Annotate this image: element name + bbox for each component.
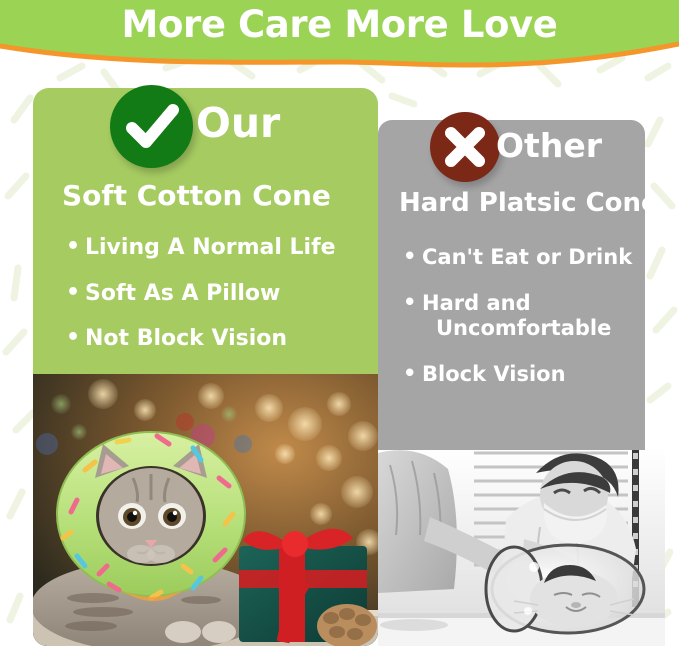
x-circle-icon [430,112,500,182]
cat-wearing-soft-donut-cone-photo [33,374,378,646]
list-item: Can't Eat or Drink [403,245,632,269]
list-item-line1: Hard and [422,291,531,315]
list-item: Not Block Vision [66,326,336,352]
panel-our-heading: Our [196,99,280,147]
list-item-line2: Uncomfortable [422,316,632,340]
list-item: Living A Normal Life [66,235,336,261]
page-title: More Care More Love [0,3,679,46]
panel-our-subtitle: Soft Cotton Cone [62,179,331,212]
panel-other-subtitle: Hard Platsic Cone [399,188,659,218]
panel-our-benefit-list: Living A Normal Life Soft As A Pillow No… [66,235,336,372]
list-item: Hard and Uncomfortable [403,291,632,340]
vet-fitting-hard-plastic-cone-photo [378,447,665,646]
check-circle-icon [110,85,193,168]
panel-other-drawback-list: Can't Eat or Drink Hard and Uncomfortabl… [403,245,632,408]
panel-other-heading: Other [496,126,602,165]
list-item: Soft As A Pillow [66,281,336,307]
product-comparison-infographic: More Care More Love Our Soft Cotton Cone… [0,0,679,671]
list-item: Block Vision [403,362,632,386]
